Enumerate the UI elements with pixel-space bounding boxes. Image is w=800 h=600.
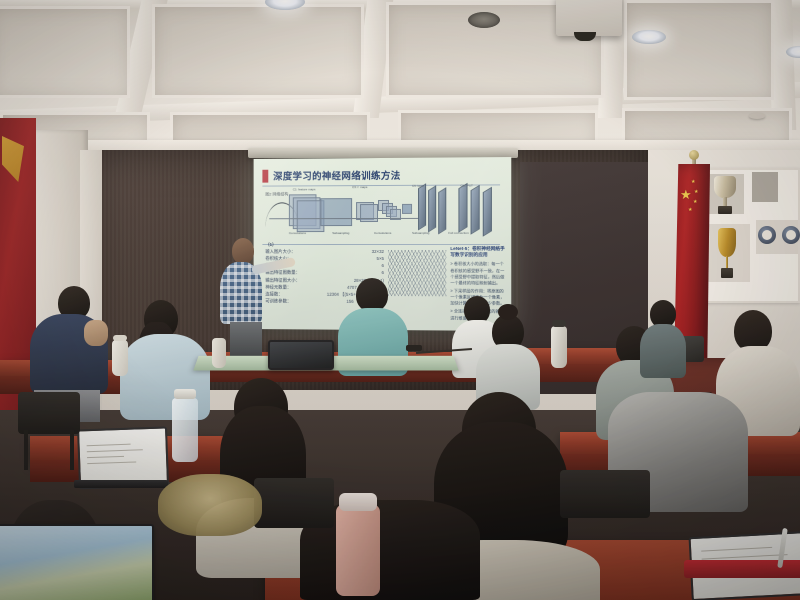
chair-mid [254, 478, 334, 528]
microphone[interactable] [406, 345, 422, 351]
chair-left [18, 392, 80, 434]
grey-thermos[interactable] [551, 326, 567, 368]
audience-member-back-right [640, 300, 686, 370]
lecture-hall-photo: ★ ★ ★ ★ ★ 深度学习的神经网络训练方法 图2 网络结构 [0, 0, 800, 600]
chair-right [560, 470, 650, 518]
pink-bottle[interactable] [336, 504, 380, 596]
presenter-trousers [230, 322, 262, 356]
trophy-silver-cup [714, 176, 736, 214]
hand [84, 320, 108, 346]
dried-flower-bundle [158, 474, 262, 536]
tablet-stand-base [74, 480, 168, 488]
hp-laptop[interactable] [0, 524, 150, 600]
right-column-bullet-1: > 卷积核大小的选取：每一个卷积核的感受野不一致，在一个感受野中提取特征，然后做… [450, 261, 505, 286]
small-cup[interactable] [212, 338, 226, 368]
tablet-on-stand[interactable] [77, 427, 165, 486]
slide-divider [262, 244, 500, 245]
presenter [218, 238, 274, 354]
recessed-downlight-on [632, 30, 666, 44]
slide-title: 深度学习的神经网络训练方法 [273, 168, 401, 183]
coffered-ceiling [0, 0, 800, 152]
clear-water-bottle[interactable] [172, 398, 198, 462]
recessed-downlight-off [468, 12, 500, 28]
smoke-detector-icon [749, 113, 765, 119]
trophy-cabinet [700, 168, 800, 303]
white-thermos[interactable] [112, 340, 128, 376]
medal-left [758, 226, 776, 244]
flag-pole-finial-icon [689, 150, 699, 160]
right-column-heading: LeNet-5：卷积神经网络手写数字识别的应用 [450, 246, 505, 259]
slide-title-accent-bar [262, 170, 268, 183]
trophy-gold-cup [718, 228, 736, 278]
presenter-laptop [268, 340, 330, 366]
ceiling-projector [556, 0, 622, 36]
lenet5-architecture-diagram: Convolutions Subsampling Convolutions Su… [263, 187, 503, 240]
medal-right [782, 226, 800, 244]
